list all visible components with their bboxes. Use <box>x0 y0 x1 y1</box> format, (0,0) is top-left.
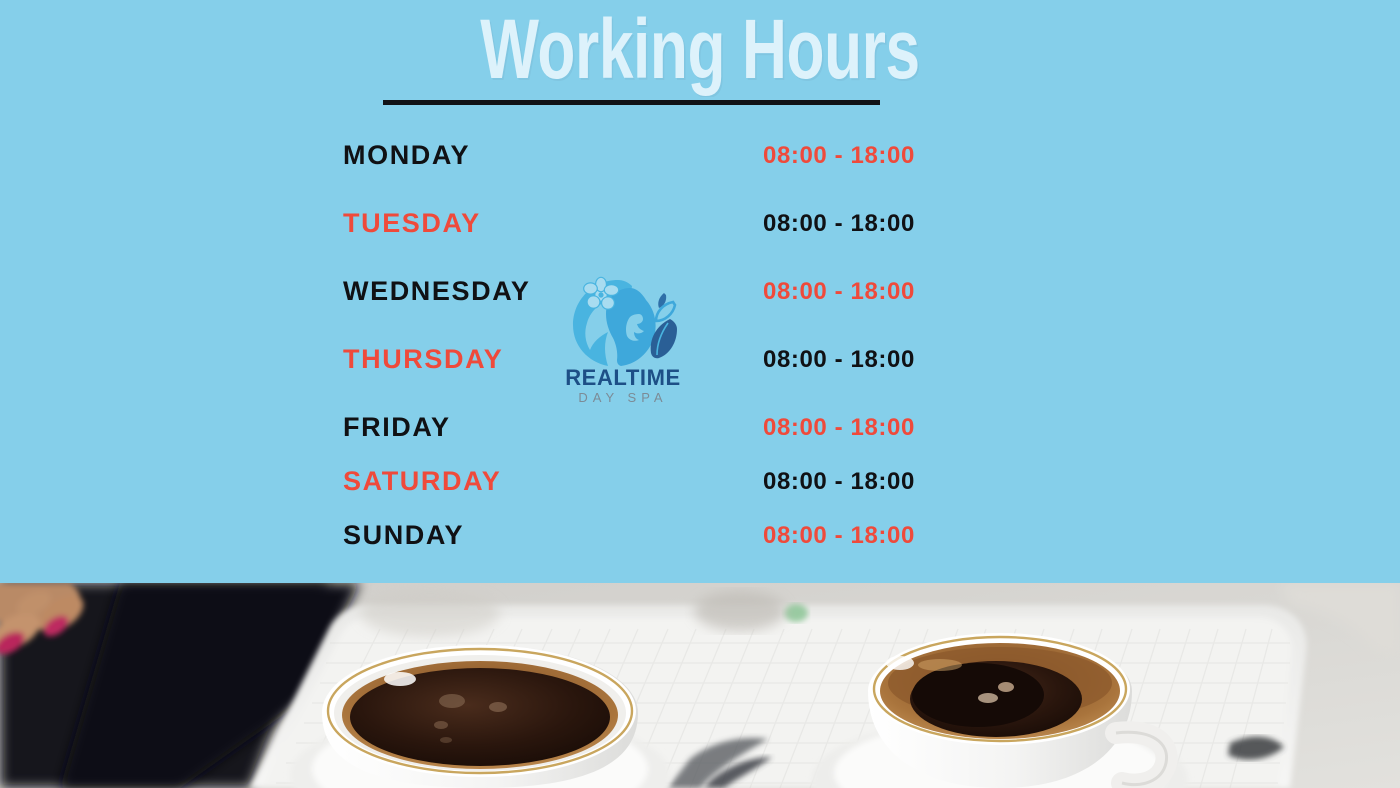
title-underline-rule <box>383 100 880 105</box>
day-label-monday: MONDAY <box>343 140 470 171</box>
schedule-row-monday: MONDAY 08:00 - 18:00 <box>0 140 1400 208</box>
day-hours-saturday: 08:00 - 18:00 <box>763 468 915 496</box>
day-hours-thursday: 08:00 - 18:00 <box>763 346 915 374</box>
day-hours-wednesday: 08:00 - 18:00 <box>763 278 915 306</box>
schedule-row-friday: FRIDAY 08:00 - 18:00 <box>0 412 1400 466</box>
schedule-row-saturday: SATURDAY 08:00 - 18:00 <box>0 466 1400 520</box>
day-hours-tuesday: 08:00 - 18:00 <box>763 210 915 238</box>
coffee-photo <box>0 583 1400 788</box>
schedule-row-sunday: SUNDAY 08:00 - 18:00 <box>0 520 1400 574</box>
day-hours-sunday: 08:00 - 18:00 <box>763 522 915 550</box>
day-hours-monday: 08:00 - 18:00 <box>763 142 915 170</box>
schedule-list: MONDAY 08:00 - 18:00 TUESDAY 08:00 - 18:… <box>0 140 1400 574</box>
day-label-saturday: SATURDAY <box>343 466 501 497</box>
day-hours-friday: 08:00 - 18:00 <box>763 414 915 442</box>
day-label-wednesday: WEDNESDAY <box>343 276 530 307</box>
page-title: Working Hours <box>480 8 920 90</box>
day-label-sunday: SUNDAY <box>343 520 464 551</box>
day-label-thursday: THURSDAY <box>343 344 503 375</box>
working-hours-poster: Working Hours MONDAY 08:00 - 18:00 TUESD… <box>0 0 1400 788</box>
day-label-tuesday: TUESDAY <box>343 208 481 239</box>
logo-brand-subtitle: DAY SPA <box>548 391 698 405</box>
title-container: Working Hours <box>0 8 1400 90</box>
day-label-friday: FRIDAY <box>343 412 451 443</box>
logo-brand-name: REALTIME <box>548 366 698 389</box>
schedule-row-wednesday: WEDNESDAY 08:00 - 18:00 <box>0 276 1400 344</box>
brand-logo: REALTIME DAY SPA <box>548 276 698 405</box>
coffee-photo-artwork <box>0 583 1400 788</box>
schedule-row-tuesday: TUESDAY 08:00 - 18:00 <box>0 208 1400 276</box>
schedule-row-thursday: THURSDAY 08:00 - 18:00 <box>0 344 1400 412</box>
spa-woman-face-flower-leaves-icon <box>560 276 686 368</box>
